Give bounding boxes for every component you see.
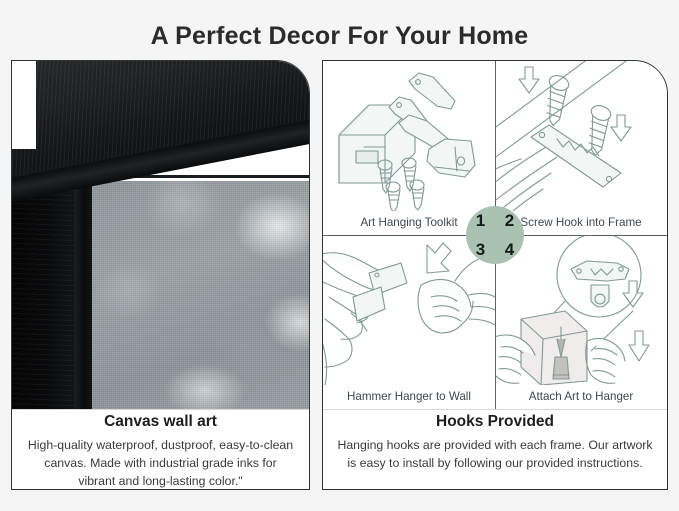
- left-caption-divider: [12, 409, 309, 410]
- photo-background-corner: [12, 61, 36, 149]
- hooks-provided-panel: Art Hanging Toolkit: [322, 60, 668, 490]
- page-title: A Perfect Decor For Your Home: [0, 22, 679, 51]
- instruction-grid: Art Hanging Toolkit: [323, 61, 667, 409]
- right-caption-divider: [323, 409, 667, 410]
- framed-canvas-photo: [12, 61, 309, 409]
- left-caption-title: Canvas wall art: [26, 413, 295, 431]
- toolkit-illustration-icon: [323, 61, 495, 211]
- product-infographic: A Perfect Decor For Your Home Canvas wal…: [0, 0, 679, 511]
- canvas-inner-frame-edge: [84, 175, 309, 409]
- left-caption: Canvas wall art High-quality waterproof,…: [12, 413, 309, 490]
- right-caption-body: Hanging hooks are provided with each fra…: [337, 437, 653, 473]
- canvas-wall-art-panel: Canvas wall art High-quality waterproof,…: [11, 60, 310, 490]
- right-caption: Hooks Provided Hanging hooks are provide…: [323, 413, 667, 473]
- step-3-label: Hammer Hanger to Wall: [323, 390, 495, 403]
- screw-hook-illustration-icon: [495, 61, 667, 211]
- step-number-badge: 1 2 3 4: [466, 206, 524, 264]
- left-caption-body: High-quality waterproof, dustproof, easy…: [26, 437, 295, 490]
- step-4-label: Attach Art to Hanger: [495, 390, 667, 403]
- frame-left-inner-edge: [74, 161, 92, 409]
- badge-number-2: 2: [495, 206, 524, 235]
- badge-number-4: 4: [495, 235, 524, 264]
- right-caption-title: Hooks Provided: [337, 413, 653, 431]
- badge-number-3: 3: [466, 235, 495, 264]
- badge-number-1: 1: [466, 206, 495, 235]
